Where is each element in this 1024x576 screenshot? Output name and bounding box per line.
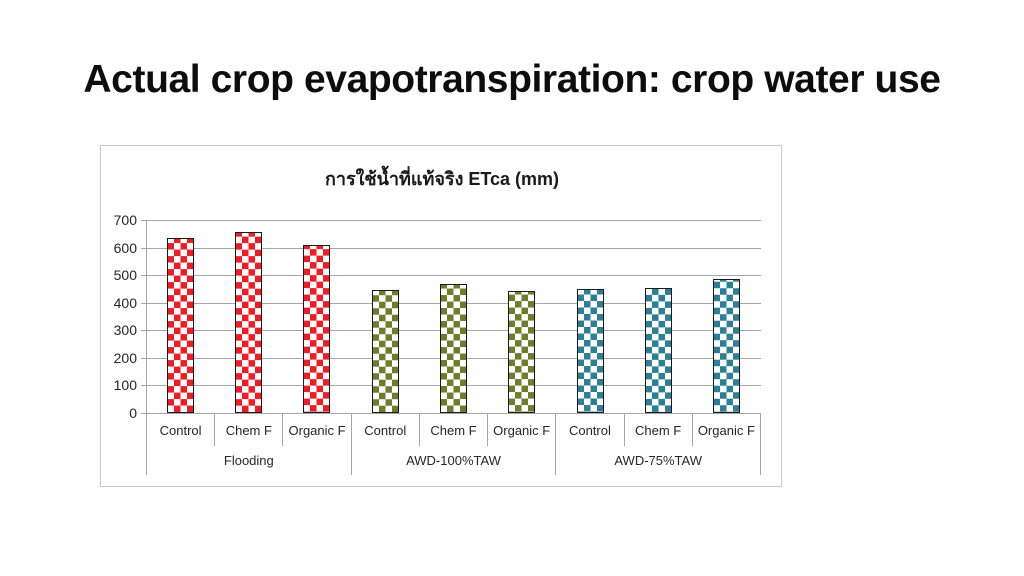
y-axis-line	[146, 220, 147, 413]
y-axis-tick-label: 500	[114, 267, 137, 283]
y-axis-tick	[141, 358, 146, 359]
y-axis-tick	[141, 330, 146, 331]
x-axis-group-labels: FloodingAWD-100%TAWAWD-75%TAW	[146, 446, 761, 475]
y-axis-tick-label: 400	[114, 295, 137, 311]
y-axis-tick-label: 300	[114, 322, 137, 338]
chart-container: การใช้น้ำที่แท้จริง ETca (mm) 7006005004…	[100, 145, 782, 487]
gridline	[146, 220, 761, 221]
x-axis-category-label: Control	[556, 414, 624, 446]
x-axis-category-labels: ControlChem FOrganic FControlChem FOrgan…	[146, 414, 761, 446]
x-axis-category-label: Control	[352, 414, 420, 446]
x-axis-category-label: Organic F	[283, 414, 351, 446]
y-axis-tick-label: 0	[129, 405, 137, 421]
x-axis-category-label: Organic F	[488, 414, 556, 446]
y-axis-tick-label: 200	[114, 350, 137, 366]
bar	[372, 290, 399, 413]
x-axis: ControlChem FOrganic FControlChem FOrgan…	[146, 413, 761, 475]
bar	[645, 288, 672, 413]
y-axis-tick-label: 600	[114, 240, 137, 256]
y-axis-tick-label: 100	[114, 377, 137, 393]
x-axis-group-label: AWD-75%TAW	[556, 446, 761, 475]
x-axis-category-label: Control	[146, 414, 215, 446]
bar	[713, 279, 740, 413]
bar	[508, 291, 535, 413]
y-axis-tick	[141, 385, 146, 386]
bar	[167, 238, 194, 413]
x-axis-group-label: Flooding	[146, 446, 352, 475]
y-axis-tick	[141, 220, 146, 221]
bar	[440, 284, 467, 413]
y-axis-tick	[141, 303, 146, 304]
x-axis-category-label: Chem F	[625, 414, 693, 446]
y-axis-tick	[141, 248, 146, 249]
chart-plot-area: 7006005004003002001000	[146, 220, 761, 413]
x-axis-group-label: AWD-100%TAW	[352, 446, 557, 475]
x-axis-category-label: Chem F	[215, 414, 283, 446]
x-axis-category-label: Chem F	[420, 414, 488, 446]
y-axis-tick	[141, 275, 146, 276]
chart-title: การใช้น้ำที่แท้จริง ETca (mm)	[101, 164, 783, 193]
bar	[235, 232, 262, 413]
page-title: Actual crop evapotranspiration: crop wat…	[0, 58, 1024, 102]
bar	[303, 245, 330, 413]
bar	[577, 289, 604, 413]
x-axis-category-label: Organic F	[693, 414, 761, 446]
y-axis-tick-label: 700	[114, 212, 137, 228]
